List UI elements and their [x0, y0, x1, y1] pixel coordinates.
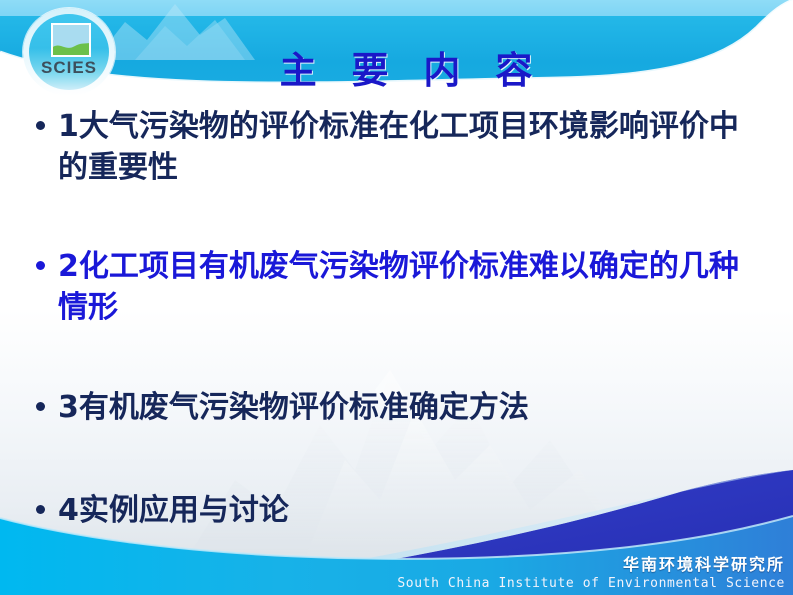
list-item: 2化工项目有机废气污染物评价标准难以确定的几种情形	[36, 246, 764, 328]
bullet-dot-icon	[36, 121, 45, 130]
footer-org: 华南环境科学研究所 South China Institute of Envir…	[397, 555, 785, 593]
list-item-label: 3有机废气污染物评价标准确定方法	[58, 387, 764, 428]
list-item: 1大气污染物的评价标准在化工项目环境影响评价中的重要性	[36, 106, 764, 188]
slide: SCIES 主 要 内 容 1大气污染物的评价标准在化工项目环境影响评价中的重要…	[0, 0, 793, 595]
content-list: 1大气污染物的评价标准在化工项目环境影响评价中的重要性 2化工项目有机废气污染物…	[36, 100, 764, 531]
page-title: 主 要 内 容	[0, 40, 793, 94]
bullet-dot-icon	[36, 261, 45, 270]
footer-org-cn: 华南环境科学研究所	[397, 555, 785, 575]
bullet-dot-icon	[36, 402, 45, 411]
list-item: 3有机废气污染物评价标准确定方法	[36, 387, 764, 428]
footer-banner: 华南环境科学研究所 South China Institute of Envir…	[0, 470, 793, 595]
list-item-label: 2化工项目有机废气污染物评价标准难以确定的几种情形	[58, 246, 764, 328]
list-item-label: 1大气污染物的评价标准在化工项目环境影响评价中的重要性	[58, 106, 764, 188]
footer-org-en: South China Institute of Environmental S…	[397, 575, 785, 593]
